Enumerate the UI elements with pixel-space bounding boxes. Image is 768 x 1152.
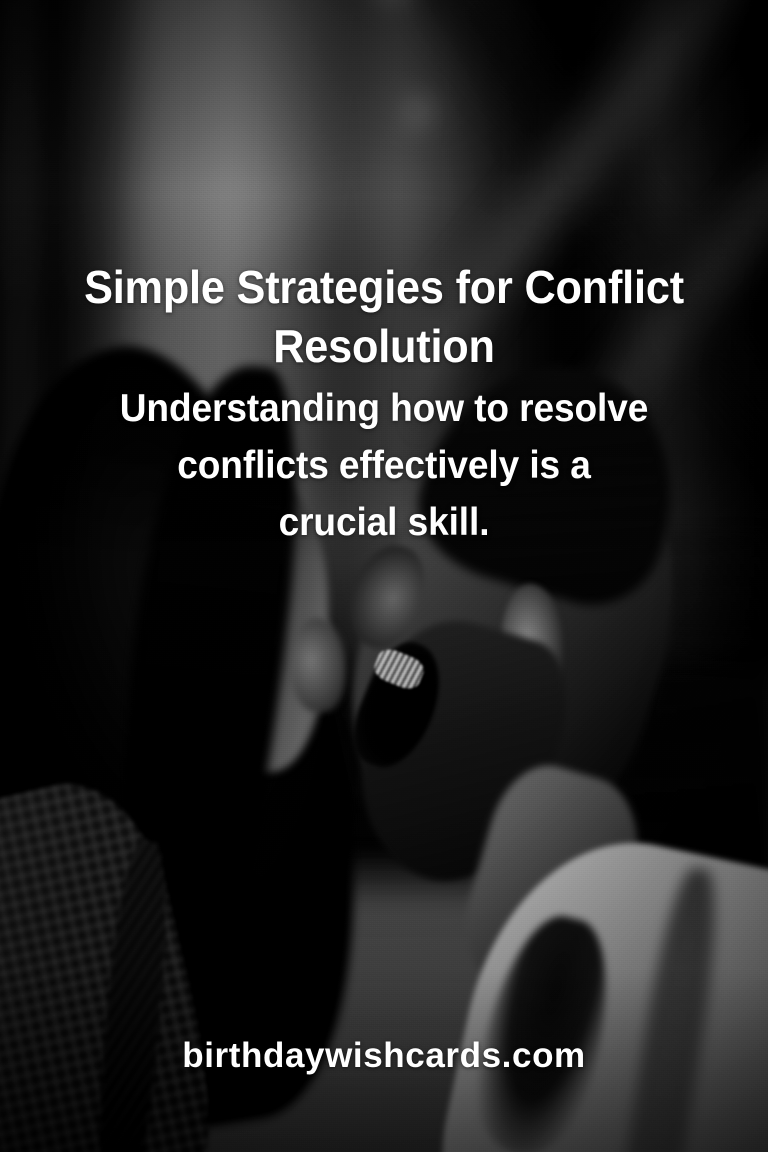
subhead-line-3: crucial skill.	[80, 495, 688, 552]
footer-block: birthdaywishcards.com	[0, 1036, 768, 1076]
subhead-line-1: Understanding how to resolve	[80, 381, 688, 438]
pin-card: Simple Strategies for Conflict Resolutio…	[0, 0, 768, 1152]
subhead-block: Understanding how to resolve conflicts e…	[0, 381, 768, 552]
headline-line-2: Resolution	[49, 317, 718, 376]
subhead-line-2: conflicts effectively is a	[80, 438, 688, 495]
headline-block: Simple Strategies for Conflict Resolutio…	[0, 258, 768, 376]
text-overlay: Simple Strategies for Conflict Resolutio…	[0, 0, 768, 1152]
site-url-watermark: birthdaywishcards.com	[0, 1036, 768, 1076]
headline-line-1: Simple Strategies for Conflict	[49, 258, 718, 317]
